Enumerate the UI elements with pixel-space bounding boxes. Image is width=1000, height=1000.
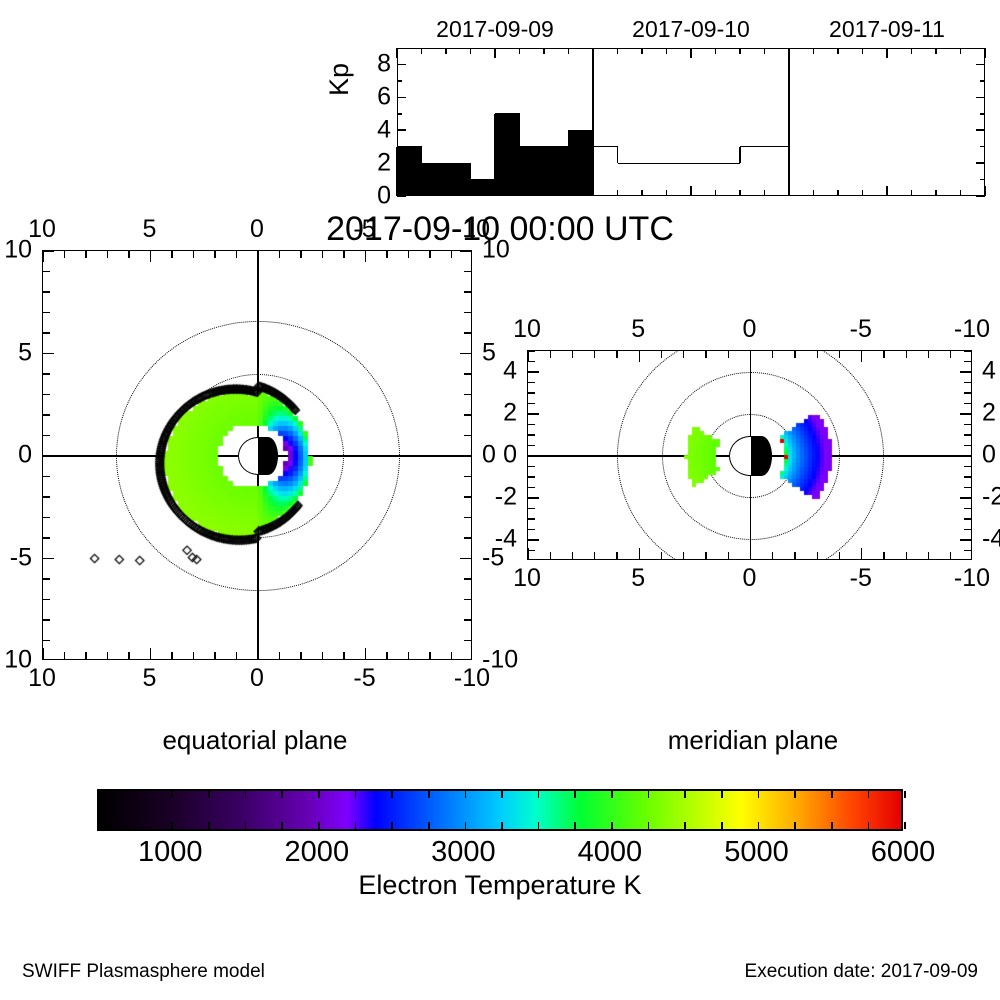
kp-bar-observed — [422, 163, 447, 196]
colorbar-tick — [428, 791, 430, 798]
y-tick-label-left: 4 — [503, 359, 517, 384]
x-axis-minor-tick — [300, 652, 301, 659]
x-axis-minor-tick — [594, 552, 595, 559]
colorbar-gradient — [99, 791, 901, 829]
kp-x-tick — [568, 48, 570, 54]
kp-x-tick — [984, 48, 986, 58]
kp-y-tick — [976, 64, 985, 66]
colorbar-tick-label: 3000 — [431, 838, 496, 867]
x-axis-minor-tick — [817, 351, 818, 358]
y-tick-label-left: 10 — [4, 238, 32, 263]
y-tick-label-right: 5 — [482, 340, 496, 365]
kp-y-tick-label: 4 — [377, 116, 391, 145]
y-axis-minor-tick — [964, 392, 971, 393]
y-axis-tick — [528, 539, 539, 540]
x-axis-minor-tick — [906, 351, 907, 358]
y-axis-tick — [960, 539, 971, 540]
colorbar-tick — [281, 822, 283, 829]
kp-step-top — [520, 146, 545, 147]
x-axis-minor-tick — [171, 251, 172, 258]
kp-step-top — [740, 146, 765, 147]
colorbar-tick — [98, 791, 100, 798]
x-tick-label-top: 10 — [513, 317, 541, 342]
kp-x-tick — [470, 48, 472, 54]
y-axis-tick — [43, 353, 54, 354]
colorbar-tick — [758, 791, 760, 798]
x-tick-label-top: 5 — [631, 317, 645, 342]
kp-step-top — [642, 163, 667, 164]
kp-x-tick — [837, 190, 839, 196]
colorbar-tick — [648, 791, 650, 798]
colorbar-tick — [904, 822, 906, 829]
x-axis-minor-tick — [705, 351, 706, 358]
y-tick-label-right: -2 — [982, 485, 1000, 510]
y-tick-label-left: -4 — [495, 527, 517, 552]
x-axis-minor-tick — [883, 552, 884, 559]
colorbar-tick — [428, 822, 430, 829]
x-axis-minor-tick — [616, 552, 617, 559]
kp-y-tick — [976, 97, 985, 99]
kp-y-tick-label: 6 — [377, 83, 391, 112]
x-axis-minor-tick — [429, 652, 430, 659]
kp-axis-title: Kp — [326, 63, 353, 96]
y-tick-label-right: 0 — [982, 443, 996, 468]
x-axis-minor-tick — [343, 251, 344, 258]
colorbar-tick — [281, 791, 283, 798]
y-axis-minor-tick — [464, 476, 471, 477]
colorbar-tick — [794, 822, 796, 829]
x-axis-minor-tick — [236, 251, 237, 258]
x-axis-minor-tick — [950, 351, 951, 358]
x-axis-minor-tick — [107, 652, 108, 659]
y-axis-minor-tick — [43, 496, 50, 497]
y-axis-minor-tick — [964, 518, 971, 519]
y-axis-tick — [960, 371, 971, 372]
x-axis-minor-tick — [171, 652, 172, 659]
kp-step-top — [569, 130, 594, 131]
kp-x-tick — [886, 186, 888, 196]
x-axis-minor-tick — [794, 552, 795, 559]
x-tick-label-bottom: 5 — [143, 666, 157, 691]
y-axis-minor-tick — [528, 508, 535, 509]
x-tick-label-bottom: 5 — [631, 566, 645, 591]
y-axis-tick — [528, 455, 539, 456]
y-tick-label-left: 0 — [503, 443, 517, 468]
y-axis-minor-tick — [528, 529, 535, 530]
kp-bar-observed — [495, 114, 520, 196]
x-axis-minor-tick — [451, 251, 452, 258]
kp-x-tick — [837, 48, 839, 54]
x-axis-minor-tick — [772, 552, 773, 559]
x-tick-label-top: -5 — [353, 217, 375, 242]
x-axis-minor-tick — [550, 552, 551, 559]
kp-x-tick — [813, 190, 815, 196]
x-axis-minor-tick — [817, 552, 818, 559]
kp-y-tick — [976, 129, 985, 131]
x-axis-minor-tick — [193, 251, 194, 258]
y-axis-minor-tick — [964, 445, 971, 446]
x-tick-label-top: -5 — [850, 317, 872, 342]
x-axis-minor-tick — [572, 552, 573, 559]
x-axis-tick — [861, 351, 862, 362]
x-axis-minor-tick — [950, 552, 951, 559]
colorbar-tick — [355, 822, 357, 829]
x-axis-minor-tick — [128, 251, 129, 258]
y-axis-minor-tick — [528, 476, 535, 477]
y-axis-minor-tick — [528, 392, 535, 393]
x-axis-tick — [639, 548, 640, 559]
y-axis-tick — [528, 371, 539, 372]
y-axis-minor-tick — [964, 403, 971, 404]
y-axis-minor-tick — [464, 435, 471, 436]
y-axis-tick — [960, 497, 971, 498]
y-axis-minor-tick — [43, 332, 50, 333]
kp-step-top — [422, 163, 447, 164]
y-axis-minor-tick — [464, 537, 471, 538]
colorbar-tick — [171, 791, 173, 798]
x-axis-minor-tick — [64, 652, 65, 659]
colorbar-tick — [904, 791, 906, 798]
x-axis-minor-tick — [661, 552, 662, 559]
kp-x-tick — [960, 190, 962, 196]
y-axis-tick — [460, 250, 471, 251]
x-axis-minor-tick — [683, 351, 684, 358]
y-axis-minor-tick — [43, 414, 50, 415]
equatorial-plane-caption: equatorial plane — [162, 727, 347, 753]
kp-day-separator — [592, 48, 594, 196]
colorbar-tick — [538, 822, 540, 829]
kp-step-top — [544, 146, 569, 147]
y-tick-label-right: -4 — [982, 527, 1000, 552]
kp-bar-observed — [397, 147, 422, 196]
colorbar-tick-label: 6000 — [871, 838, 936, 867]
meridian-earth-nightside — [751, 436, 772, 476]
y-tick-label-right: 4 — [982, 359, 996, 384]
kp-step-edge — [739, 147, 740, 163]
kp-step-top — [495, 113, 520, 114]
x-axis-minor-tick — [193, 652, 194, 659]
colorbar-tick — [648, 822, 650, 829]
y-axis-minor-tick — [528, 434, 535, 435]
y-axis-minor-tick — [964, 476, 971, 477]
x-axis-minor-tick — [386, 652, 387, 659]
colorbar-tick — [135, 822, 137, 829]
kp-y-tick-label: 0 — [377, 182, 391, 211]
y-axis-minor-tick — [964, 529, 971, 530]
x-axis-minor-tick — [839, 351, 840, 358]
x-axis-minor-tick — [683, 552, 684, 559]
kp-y-tick — [397, 64, 406, 66]
kp-index-chart: 02468 — [397, 48, 985, 196]
y-axis-minor-tick — [43, 537, 50, 538]
x-axis-minor-tick — [794, 351, 795, 358]
x-axis-minor-tick — [550, 351, 551, 358]
y-axis-tick — [43, 455, 54, 456]
colorbar-tick — [758, 822, 760, 829]
colorbar-title: Electron Temperature K — [358, 872, 641, 899]
y-axis-minor-tick — [43, 435, 50, 436]
y-axis-minor-tick — [528, 518, 535, 519]
y-axis-minor-tick — [964, 424, 971, 425]
x-axis-minor-tick — [728, 552, 729, 559]
x-axis-minor-tick — [572, 351, 573, 358]
footer-execution-date: Execution date: 2017-09-09 — [745, 962, 978, 981]
colorbar-tick — [171, 822, 173, 829]
y-axis-minor-tick — [964, 508, 971, 509]
kp-step-edge — [519, 114, 520, 147]
y-tick-label-right: -10 — [482, 648, 518, 673]
y-tick-label-left: 0 — [18, 443, 32, 468]
kp-x-tick — [911, 48, 913, 54]
kp-day-label: 2017-09-11 — [829, 18, 945, 41]
colorbar-tick — [611, 822, 613, 829]
kp-x-tick — [690, 48, 692, 58]
x-tick-label-bottom: 10 — [513, 566, 541, 591]
kp-day-separator — [788, 48, 790, 196]
colorbar-tick-label: 1000 — [138, 838, 203, 867]
kp-x-tick — [445, 48, 447, 54]
y-axis-minor-tick — [464, 496, 471, 497]
kp-step-top — [691, 163, 716, 164]
x-axis-minor-tick — [64, 251, 65, 258]
y-axis-tick — [960, 455, 971, 456]
kp-x-tick — [641, 190, 643, 196]
y-axis-minor-tick — [464, 414, 471, 415]
kp-x-tick — [862, 48, 864, 54]
y-axis-minor-tick — [464, 312, 471, 313]
y-axis-tick — [460, 558, 471, 559]
x-tick-label-top: 0 — [250, 217, 264, 242]
kp-bar-observed — [446, 163, 471, 196]
y-tick-label-left: -5 — [10, 545, 32, 570]
kp-x-tick — [666, 190, 668, 196]
y-tick-label-right: 0 — [482, 443, 496, 468]
kp-step-top — [765, 146, 790, 147]
y-tick-label-right: 2 — [982, 401, 996, 426]
colorbar-tick — [721, 822, 723, 829]
kp-x-tick — [739, 48, 741, 54]
x-axis-minor-tick — [128, 652, 129, 659]
y-axis-minor-tick — [43, 312, 50, 313]
y-axis-minor-tick — [528, 361, 535, 362]
colorbar-tick — [501, 822, 503, 829]
kp-y-minor-tick — [397, 80, 402, 82]
x-axis-minor-tick — [236, 652, 237, 659]
kp-x-tick — [813, 48, 815, 54]
colorbar-tick-label: 5000 — [724, 838, 789, 867]
y-axis-minor-tick — [464, 291, 471, 292]
x-tick-label-top: -10 — [954, 317, 990, 342]
y-axis-minor-tick — [464, 640, 471, 641]
x-axis-minor-tick — [928, 351, 929, 358]
kp-step-top — [397, 146, 422, 147]
colorbar-tick — [245, 791, 247, 798]
x-axis-tick — [257, 251, 258, 262]
y-axis-tick — [43, 558, 54, 559]
colorbar-tick — [831, 791, 833, 798]
colorbar-tick-label: 4000 — [578, 838, 643, 867]
kp-step-edge — [617, 147, 618, 163]
kp-y-minor-tick — [980, 80, 985, 82]
y-axis-minor-tick — [964, 550, 971, 551]
colorbar-tick — [465, 822, 467, 829]
x-axis-tick — [150, 251, 151, 262]
x-tick-label-top: 10 — [28, 217, 56, 242]
colorbar-tick — [721, 791, 723, 798]
x-axis-minor-tick — [839, 552, 840, 559]
y-axis-minor-tick — [528, 350, 535, 351]
x-tick-label-bottom: 10 — [28, 666, 56, 691]
y-tick-label-left: 5 — [18, 340, 32, 365]
y-axis-minor-tick — [528, 466, 535, 467]
kp-plot-frame — [397, 48, 985, 196]
x-tick-label-bottom: -5 — [353, 666, 375, 691]
y-axis-minor-tick — [464, 394, 471, 395]
x-axis-minor-tick — [661, 351, 662, 358]
y-axis-minor-tick — [43, 271, 50, 272]
colorbar-tick — [465, 791, 467, 798]
colorbar-tick — [868, 791, 870, 798]
x-axis-minor-tick — [214, 652, 215, 659]
x-axis-minor-tick — [343, 652, 344, 659]
x-axis-tick — [257, 648, 258, 659]
y-axis-minor-tick — [528, 424, 535, 425]
y-axis-minor-tick — [43, 640, 50, 641]
kp-x-tick — [960, 48, 962, 54]
y-axis-minor-tick — [43, 578, 50, 579]
kp-x-tick — [911, 190, 913, 196]
y-tick-label-left: 2 — [503, 401, 517, 426]
kp-bar-observed — [544, 147, 569, 196]
colorbar-tick — [868, 822, 870, 829]
y-axis-minor-tick — [464, 373, 471, 374]
x-axis-minor-tick — [85, 251, 86, 258]
y-axis-minor-tick — [964, 382, 971, 383]
kp-step-top — [667, 163, 692, 164]
kp-y-tick — [976, 162, 985, 164]
y-axis-minor-tick — [528, 382, 535, 383]
colorbar-tick — [684, 791, 686, 798]
y-axis-minor-tick — [964, 434, 971, 435]
kp-x-tick — [641, 48, 643, 54]
colorbar-tick — [208, 791, 210, 798]
kp-step-top — [446, 163, 471, 164]
kp-x-tick — [494, 48, 496, 58]
y-axis-minor-tick — [43, 373, 50, 374]
x-axis-minor-tick — [386, 251, 387, 258]
x-axis-minor-tick — [728, 351, 729, 358]
kp-x-tick — [421, 48, 423, 54]
x-axis-minor-tick — [928, 552, 929, 559]
kp-x-tick — [935, 190, 937, 196]
kp-y-tick — [397, 129, 406, 131]
x-axis-minor-tick — [300, 251, 301, 258]
y-axis-minor-tick — [528, 550, 535, 551]
x-tick-label-bottom: 0 — [250, 666, 264, 691]
x-axis-minor-tick — [772, 351, 773, 358]
x-tick-label-bottom: 0 — [743, 566, 757, 591]
x-axis-minor-tick — [429, 251, 430, 258]
y-tick-label-left: -2 — [495, 485, 517, 510]
x-axis-minor-tick — [85, 652, 86, 659]
kp-y-tick-label: 8 — [377, 50, 391, 79]
y-axis-minor-tick — [43, 394, 50, 395]
colorbar-tick — [355, 791, 357, 798]
y-axis-tick — [460, 353, 471, 354]
x-axis-tick — [42, 648, 43, 659]
kp-step-top — [716, 163, 741, 164]
x-axis-tick — [365, 251, 366, 262]
colorbar-tick — [135, 791, 137, 798]
y-axis-tick — [528, 413, 539, 414]
y-axis-minor-tick — [43, 599, 50, 600]
kp-x-tick — [935, 48, 937, 54]
y-axis-minor-tick — [464, 578, 471, 579]
x-axis-tick — [42, 251, 43, 262]
colorbar-tick — [831, 822, 833, 829]
equatorial-plane-plot — [42, 250, 472, 660]
kp-bar-observed — [569, 130, 594, 196]
x-axis-minor-tick — [279, 652, 280, 659]
x-axis-tick — [861, 548, 862, 559]
kp-y-minor-tick — [980, 179, 985, 181]
x-axis-minor-tick — [107, 251, 108, 258]
kp-x-tick — [617, 48, 619, 54]
x-axis-minor-tick — [705, 552, 706, 559]
y-axis-minor-tick — [464, 271, 471, 272]
kp-y-minor-tick — [397, 113, 402, 115]
kp-x-tick — [690, 186, 692, 196]
y-axis-minor-tick — [464, 599, 471, 600]
x-axis-minor-tick — [322, 251, 323, 258]
kp-y-minor-tick — [980, 146, 985, 148]
y-axis-tick — [528, 497, 539, 498]
y-axis-minor-tick — [43, 517, 50, 518]
kp-step-top — [471, 179, 496, 180]
x-axis-tick — [639, 351, 640, 362]
y-axis-tick — [43, 250, 54, 251]
kp-x-tick — [543, 48, 545, 54]
kp-x-tick — [715, 48, 717, 54]
kp-x-tick — [617, 190, 619, 196]
footer-model-name: SWIFF Plasmasphere model — [22, 962, 265, 981]
y-axis-minor-tick — [964, 466, 971, 467]
x-axis-tick — [750, 351, 751, 362]
kp-x-tick — [764, 48, 766, 54]
colorbar-tick — [794, 791, 796, 798]
meridian-plane-caption: meridian plane — [668, 727, 839, 753]
kp-x-tick — [764, 190, 766, 196]
kp-x-tick — [886, 48, 888, 58]
x-axis-minor-tick — [594, 351, 595, 358]
kp-day-label: 2017-09-09 — [436, 18, 554, 41]
y-axis-minor-tick — [43, 619, 50, 620]
y-axis-minor-tick — [528, 403, 535, 404]
kp-step-top — [618, 163, 643, 164]
y-axis-minor-tick — [464, 332, 471, 333]
x-tick-label-bottom: -10 — [954, 566, 990, 591]
kp-x-tick — [739, 190, 741, 196]
x-axis-minor-tick — [214, 251, 215, 258]
y-tick-label-right: 10 — [482, 238, 510, 263]
x-axis-tick — [150, 648, 151, 659]
kp-y-tick — [397, 97, 406, 99]
colorbar-tick — [208, 822, 210, 829]
colorbar-tick — [391, 822, 393, 829]
y-axis-minor-tick — [528, 445, 535, 446]
kp-x-tick — [984, 186, 986, 196]
x-tick-label-bottom: -5 — [850, 566, 872, 591]
